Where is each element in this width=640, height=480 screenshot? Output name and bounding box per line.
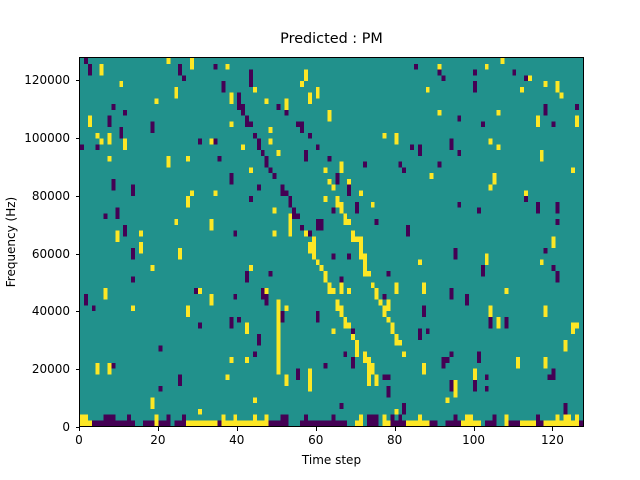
x-tick-label: 40 [229,433,244,447]
x-axis-label: Time step [79,453,584,467]
x-tick-label: 60 [308,433,323,447]
x-tick-label: 80 [387,433,402,447]
y-tick-mark [76,138,80,139]
y-tick-mark [76,427,80,428]
x-tick-label: 0 [75,433,83,447]
y-tick-label: 100000 [0,131,70,145]
x-tick-label: 100 [462,433,485,447]
y-tick-mark [76,254,80,255]
x-tick-mark [395,427,396,431]
y-tick-mark [76,369,80,370]
x-tick-mark [552,427,553,431]
x-tick-mark [474,427,475,431]
x-tick-mark [79,427,80,431]
matplotlib-figure: Predicted : PM 020406080100120 020000400… [0,0,640,480]
x-tick-label: 20 [150,433,165,447]
heatmap-image [80,58,583,426]
x-tick-mark [158,427,159,431]
y-tick-mark [76,196,80,197]
x-tick-label: 120 [541,433,564,447]
x-tick-mark [237,427,238,431]
y-tick-mark [76,311,80,312]
y-tick-mark [76,80,80,81]
page-title: Predicted : PM [79,30,584,48]
y-tick-label: 20000 [0,362,70,376]
y-tick-label: 40000 [0,304,70,318]
heatmap-plot-area [79,57,584,427]
y-axis-label: Frequency (Hz) [4,197,18,288]
y-tick-label: 120000 [0,73,70,87]
x-tick-mark [316,427,317,431]
y-tick-label: 0 [0,420,70,434]
